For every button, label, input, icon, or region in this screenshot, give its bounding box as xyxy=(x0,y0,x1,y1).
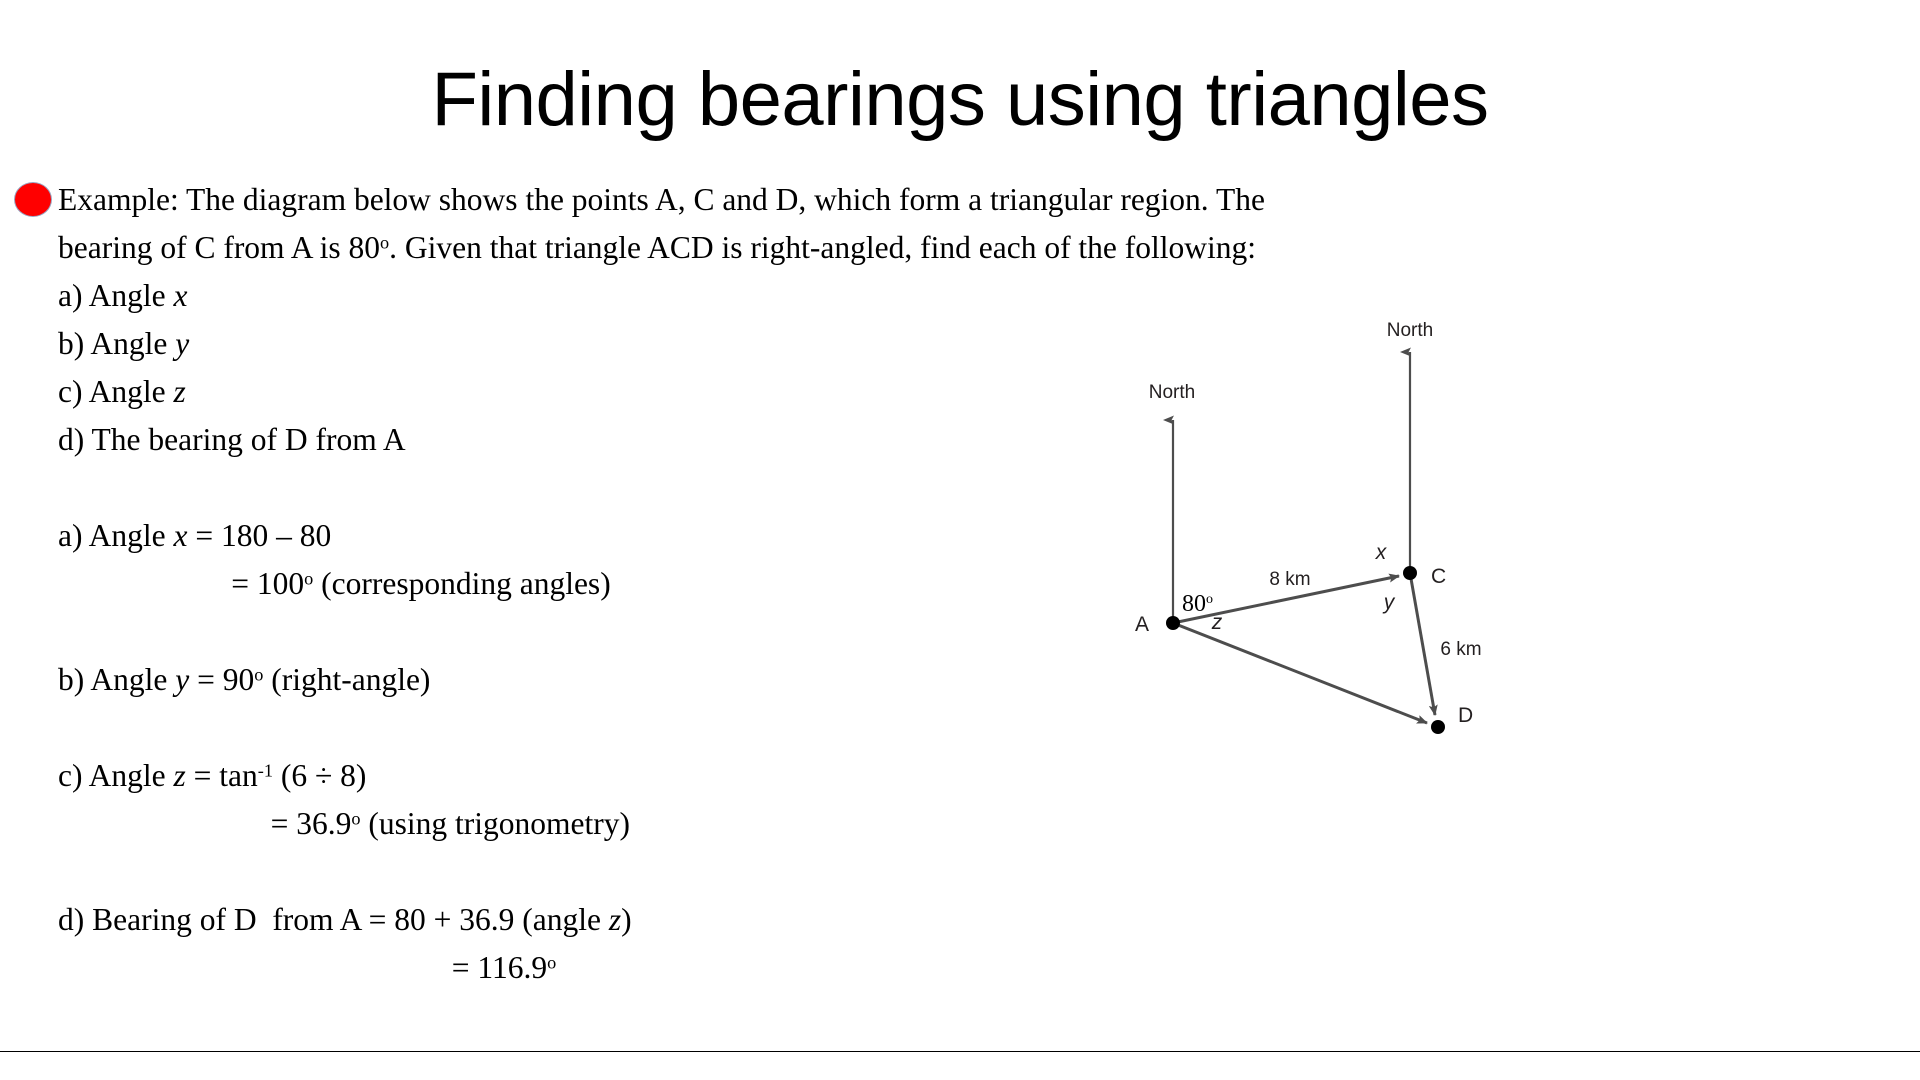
text-segment: = 36.9 xyxy=(58,806,351,841)
body-line-intro-2: bearing of C from A is 80o. Given that t… xyxy=(58,224,1538,272)
north-label-left: North xyxy=(1149,382,1195,403)
side-length-label-ac: 8 km xyxy=(1269,569,1310,590)
text-segment: o xyxy=(304,569,313,589)
text-segment: = tan xyxy=(186,758,258,793)
point-label-c: C xyxy=(1431,565,1446,588)
segment-a-to-d xyxy=(1173,623,1427,723)
angle-80-degree-symbol: o xyxy=(1206,592,1213,607)
text-segment: o xyxy=(547,953,556,973)
vertex-c-dot xyxy=(1403,566,1417,580)
text-segment: Example: The diagram below shows the poi… xyxy=(58,182,1265,217)
bearing-diagram-svg: North North A C D 80o 8 km 6 km x y z xyxy=(1090,300,1550,760)
text-segment: a) Angle xyxy=(58,278,173,313)
body-line-intro-1: Example: The diagram below shows the poi… xyxy=(58,176,1538,224)
side-length-label-cd: 6 km xyxy=(1440,639,1481,660)
angle-80-value: 80 xyxy=(1182,591,1206,617)
body-line-ans-d-2: = 116.9o xyxy=(58,944,1538,992)
text-segment: x xyxy=(173,518,187,553)
body-line-ans-c-2: = 36.9o (using trigonometry) xyxy=(58,800,1538,848)
text-segment: z xyxy=(609,902,621,937)
text-segment: y xyxy=(175,662,189,697)
text-segment: d) The bearing of D from A xyxy=(58,422,406,457)
text-segment: = 100 xyxy=(58,566,304,601)
text-segment: = 180 – 80 xyxy=(187,518,331,553)
text-segment: o xyxy=(254,665,263,685)
vertex-d-dot xyxy=(1431,720,1445,734)
text-segment: (using trigonometry) xyxy=(361,806,630,841)
text-segment: c) Angle xyxy=(58,374,173,409)
body-line-spacer-4 xyxy=(58,848,1538,896)
angle-label-y: y xyxy=(1382,591,1396,614)
bullet-point-icon xyxy=(14,182,52,217)
body-line-ans-d-1: d) Bearing of D from A = 80 + 36.9 (angl… xyxy=(58,896,1538,944)
segment-c-to-d xyxy=(1410,573,1435,715)
angle-label-x: x xyxy=(1375,541,1388,564)
bearing-diagram: North North A C D 80o 8 km 6 km x y z xyxy=(1090,300,1550,760)
north-label-right: North xyxy=(1387,320,1433,341)
text-segment: bearing of C from A is 80 xyxy=(58,230,380,265)
text-segment: (corresponding angles) xyxy=(313,566,610,601)
angle-label-80-degrees: 80o xyxy=(1182,591,1213,617)
point-label-a: A xyxy=(1135,613,1149,636)
text-segment: y xyxy=(175,326,189,361)
text-segment: b) Angle xyxy=(58,326,175,361)
text-segment: z xyxy=(173,374,185,409)
text-segment: o xyxy=(351,809,360,829)
text-segment: = 90 xyxy=(189,662,254,697)
angle-label-z: z xyxy=(1211,611,1223,634)
text-segment: -1 xyxy=(258,761,273,781)
text-segment: a) Angle xyxy=(58,518,173,553)
page-title: Finding bearings using triangles xyxy=(0,62,1920,138)
vertex-a-dot xyxy=(1166,616,1180,630)
footer-divider xyxy=(0,1051,1920,1052)
text-segment: c) Angle xyxy=(58,758,173,793)
text-segment: x xyxy=(173,278,187,313)
text-segment: o xyxy=(380,233,389,253)
slide-canvas: Finding bearings using triangles Example… xyxy=(0,0,1920,1080)
text-segment: = 116.9 xyxy=(58,950,547,985)
text-segment: (6 ÷ 8) xyxy=(273,758,366,793)
text-segment: d) Bearing of D from A = 80 + 36.9 (angl… xyxy=(58,902,609,937)
text-segment: z xyxy=(173,758,185,793)
text-segment: ) xyxy=(621,902,632,937)
text-segment: (right-angle) xyxy=(263,662,430,697)
point-label-d: D xyxy=(1458,704,1473,727)
text-segment: . Given that triangle ACD is right-angle… xyxy=(389,230,1256,265)
text-segment: b) Angle xyxy=(58,662,175,697)
